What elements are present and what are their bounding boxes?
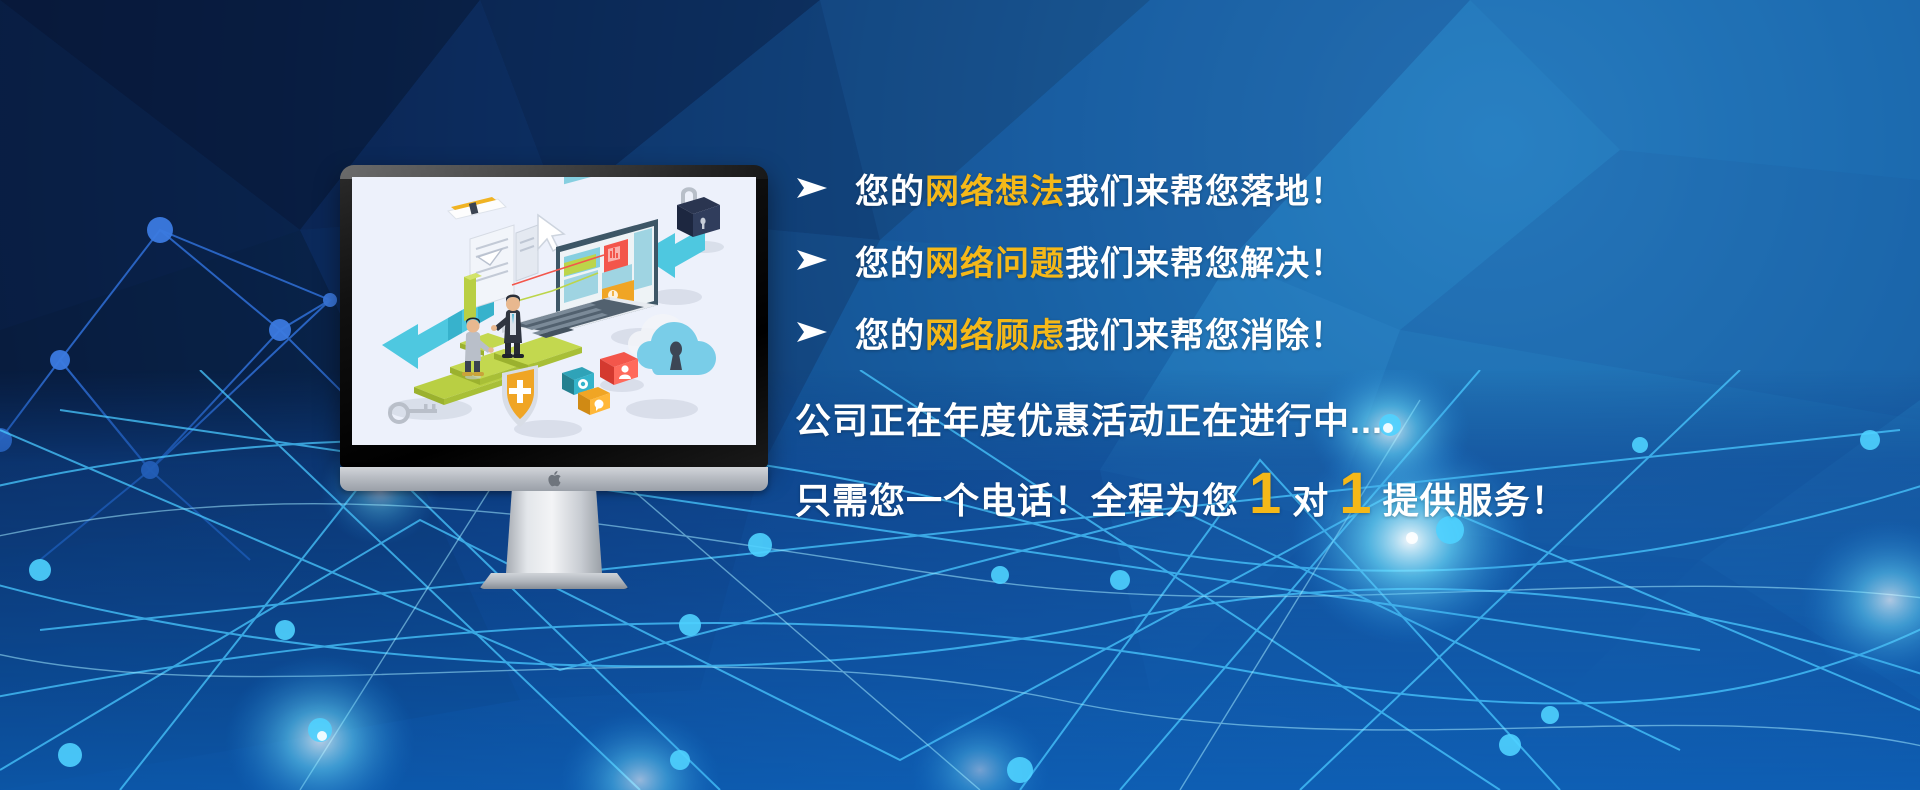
arrow-right-bullet-icon xyxy=(795,175,829,201)
arrow-right-bullet-icon xyxy=(795,247,829,273)
monitor-bezel xyxy=(340,165,768,467)
bullet-2-highlight: 网络问题 xyxy=(925,245,1065,283)
cta-part-1: 只需您一个电话！全程为您 xyxy=(795,472,1239,524)
apple-logo-icon xyxy=(547,471,561,487)
bullet-1-lead: 您的 xyxy=(855,173,925,211)
bullet-1-highlight: 网络想法 xyxy=(925,173,1065,211)
bullet-2-tail: 我们来帮您解决！ xyxy=(1065,245,1345,283)
bullet-text-2: 您的网络问题我们来帮您解决！ xyxy=(855,236,1345,285)
monitor-screen xyxy=(352,177,756,445)
promo-banner: 您的网络想法我们来帮您落地！ 您的网络问题我们来帮您解决！ 您的网络顾虑我们来帮… xyxy=(0,0,1920,790)
imac-monitor-illustration xyxy=(340,165,768,589)
bullet-row-3: 您的网络顾虑我们来帮您消除！ xyxy=(795,296,1695,368)
monitor-stand-foot xyxy=(479,573,629,589)
bullet-1-tail: 我们来帮您落地！ xyxy=(1065,173,1345,211)
bullet-2-lead: 您的 xyxy=(855,245,925,283)
bullet-row-1: 您的网络想法我们来帮您落地！ xyxy=(795,152,1695,224)
bullet-3-lead: 您的 xyxy=(855,317,925,355)
promo-text: 公司正在年度优惠活动正在进行中... xyxy=(795,392,1695,444)
monitor-chin xyxy=(340,467,768,491)
cta-middle: 对 xyxy=(1292,472,1329,524)
monitor-stand-neck xyxy=(506,491,602,573)
marketing-copy-block: 您的网络想法我们来帮您落地！ 您的网络问题我们来帮您解决！ 您的网络顾虑我们来帮… xyxy=(795,152,1695,524)
bullet-3-tail: 我们来帮您消除！ xyxy=(1065,317,1345,355)
bullet-row-2: 您的网络问题我们来帮您解决！ xyxy=(795,224,1695,296)
cta-part-2: 提供服务！ xyxy=(1383,472,1568,524)
bullet-text-1: 您的网络想法我们来帮您落地！ xyxy=(855,164,1345,213)
cta-text: 只需您一个电话！全程为您 1 对 1 提供服务！ xyxy=(795,472,1695,524)
isometric-scene xyxy=(352,177,756,445)
bullet-3-highlight: 网络顾虑 xyxy=(925,317,1065,355)
arrow-right-bullet-icon xyxy=(795,319,829,345)
bullet-text-3: 您的网络顾虑我们来帮您消除！ xyxy=(855,308,1345,357)
